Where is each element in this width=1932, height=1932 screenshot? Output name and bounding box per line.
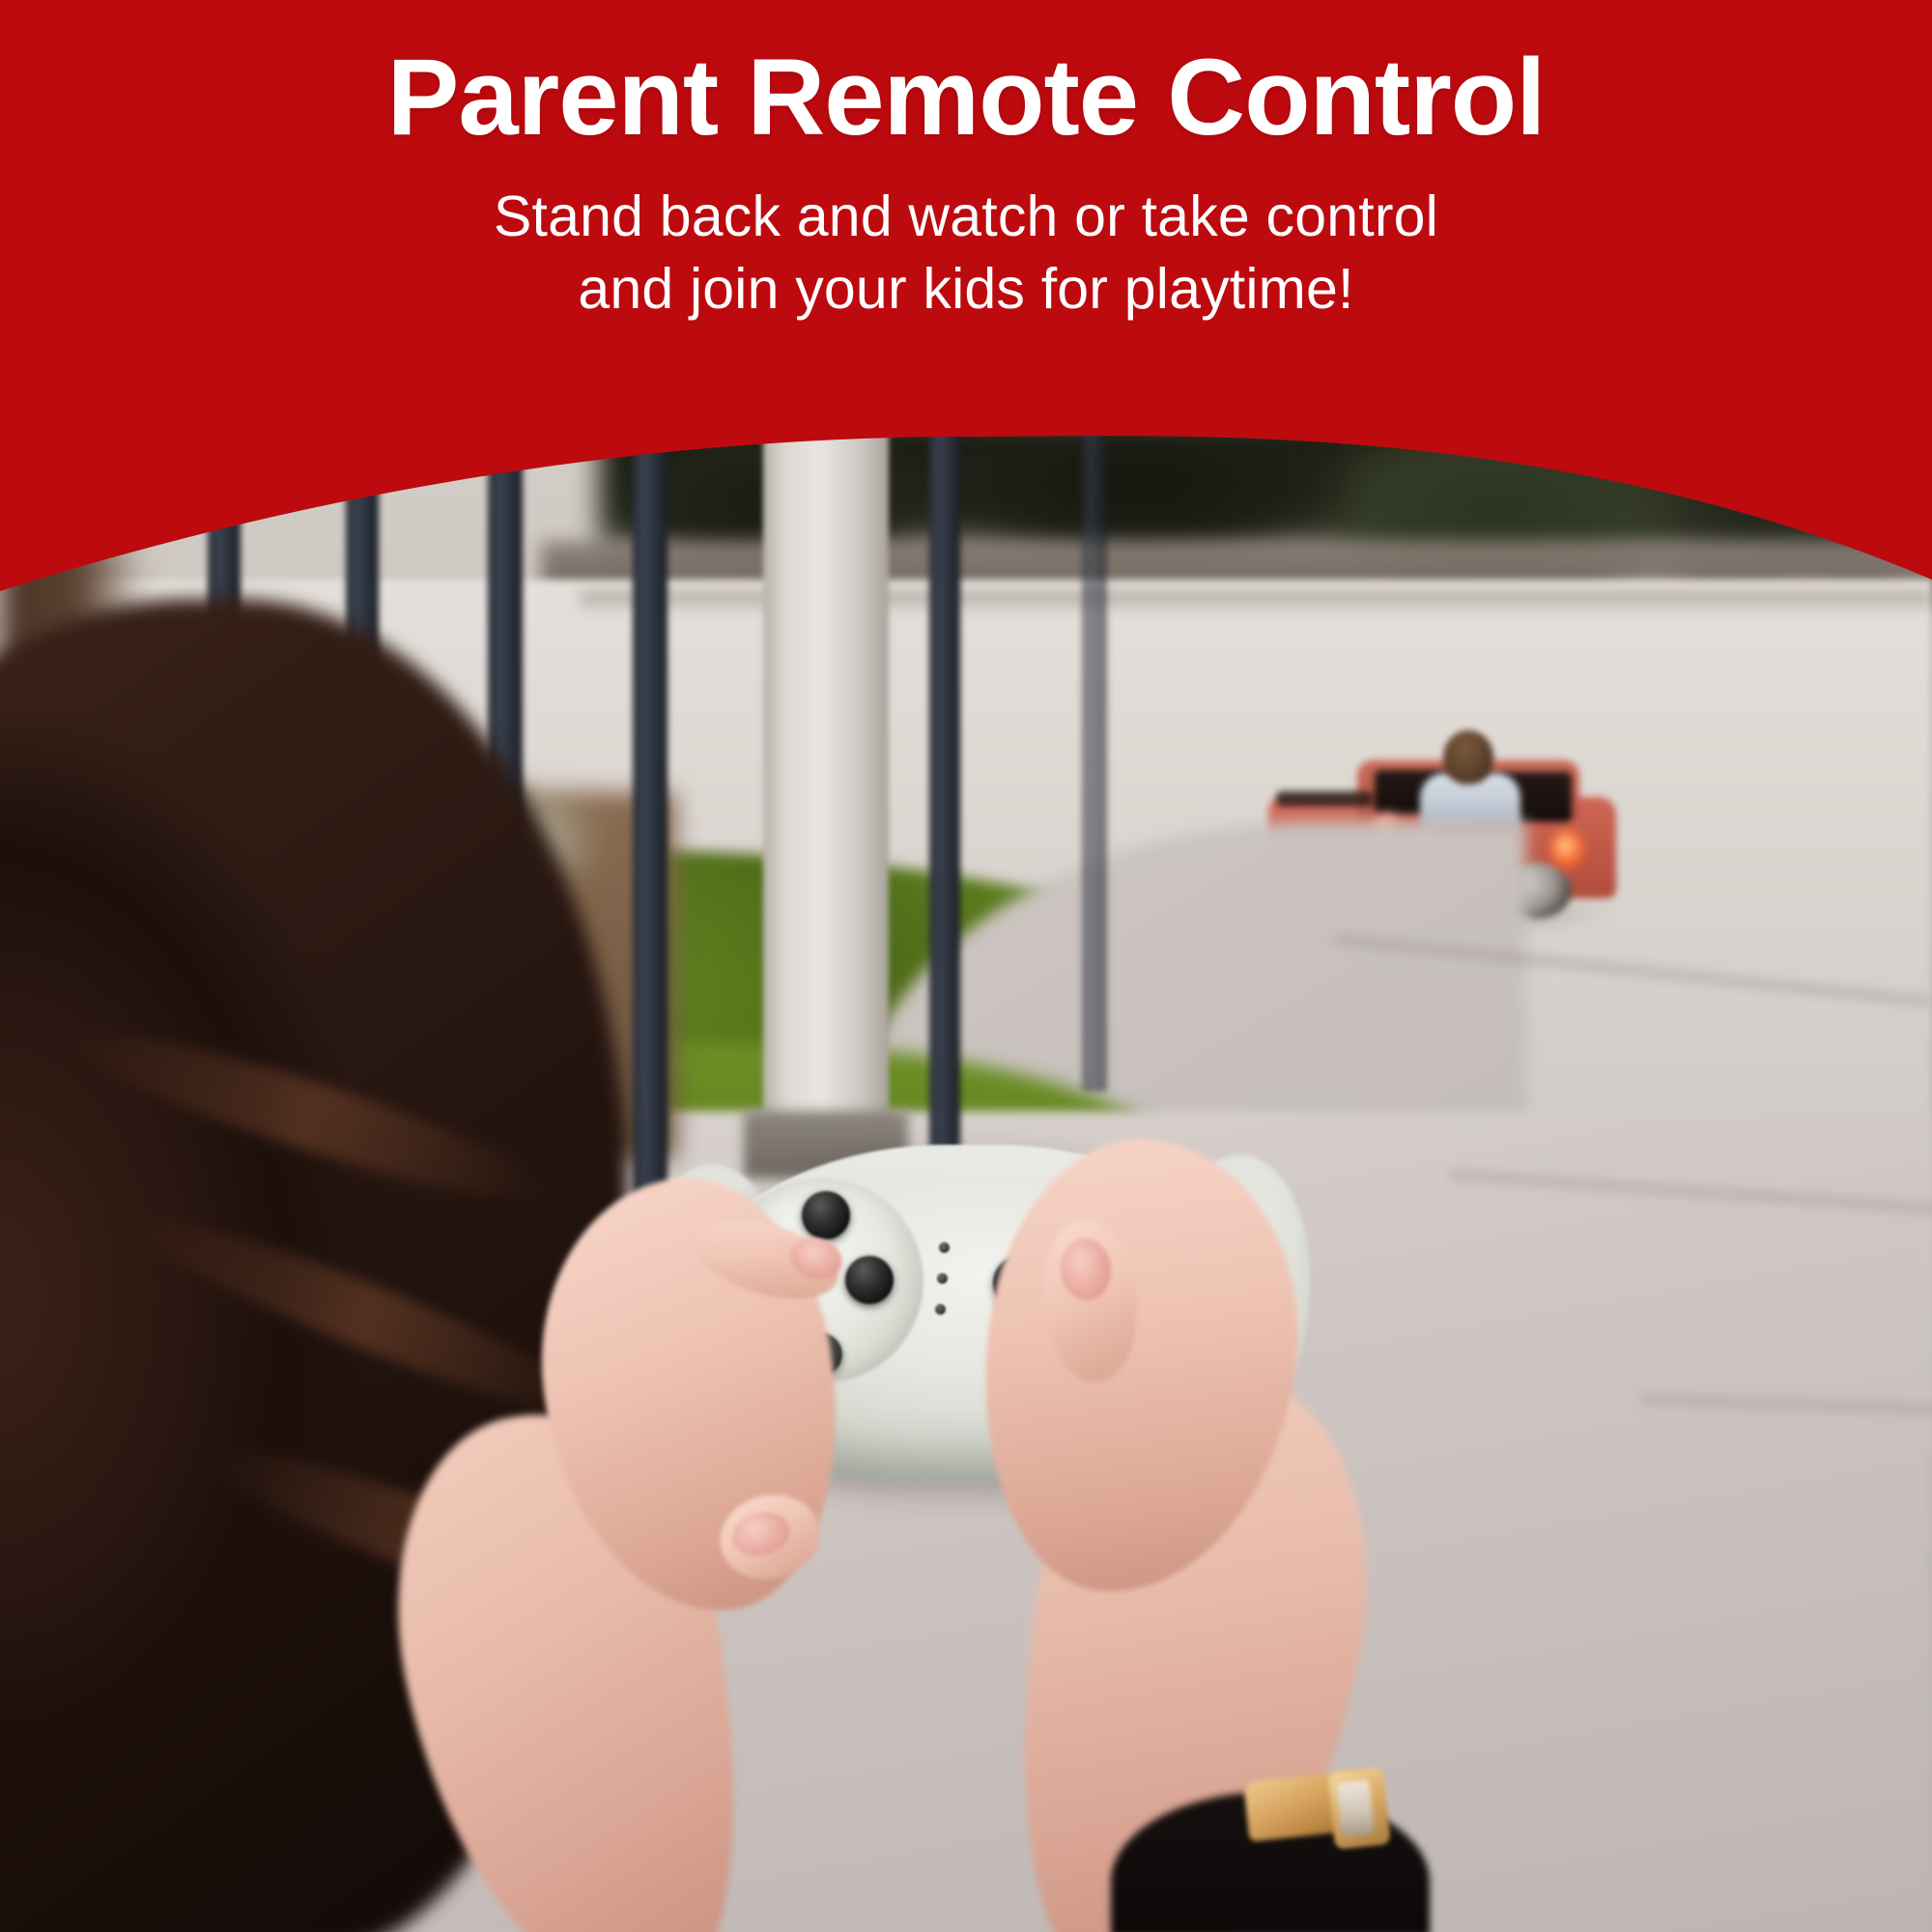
- led-indicator: [939, 1242, 950, 1253]
- truck-bed-rail: [1276, 791, 1373, 807]
- stone-column: [763, 415, 889, 1169]
- control-stick: [802, 1191, 850, 1239]
- led-indicator: [935, 1304, 946, 1315]
- watch-face-crystal: [1336, 1779, 1375, 1836]
- fence-post: [929, 415, 960, 1188]
- led-indicator: [937, 1273, 948, 1284]
- control-stick: [845, 1256, 894, 1304]
- truck-tail-light-right: [1550, 830, 1583, 870]
- fence-post: [633, 415, 668, 1246]
- marketing-hero-image: Parent Remote Control Stand back and wat…: [0, 0, 1932, 1932]
- fence-post: [1082, 415, 1107, 1092]
- product-lifestyle-photo: [0, 0, 1932, 1932]
- child-head: [1443, 730, 1493, 784]
